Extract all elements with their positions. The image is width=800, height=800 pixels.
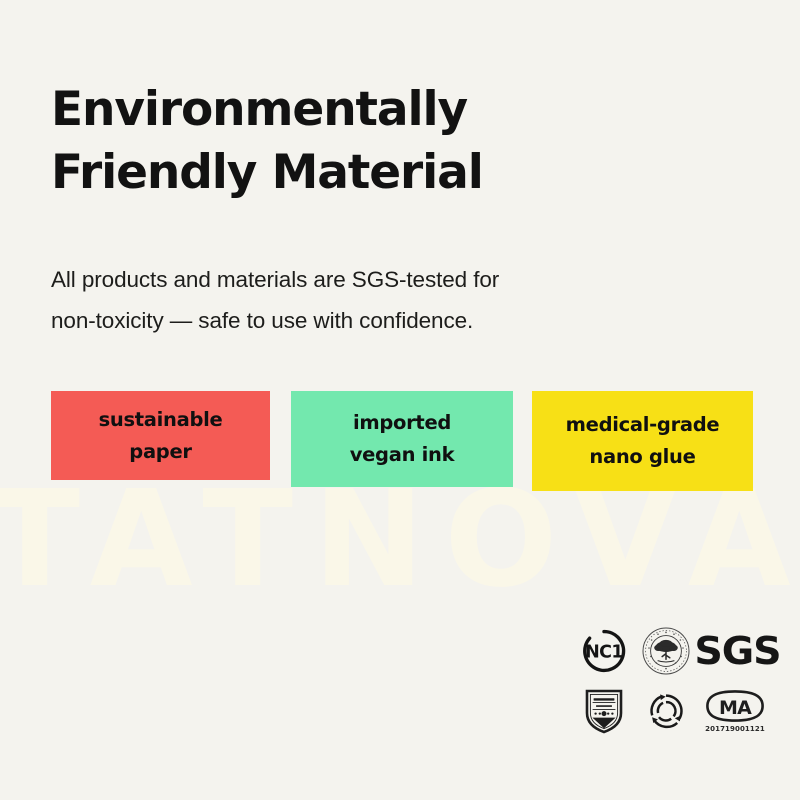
brand-watermark: TATNOVA	[0, 474, 800, 607]
subtitle-line-1: All products and materials are SGS-teste…	[51, 259, 691, 300]
chip-label-line-2: vegan ink	[350, 439, 455, 471]
subtitle-line-2: non-toxicity — safe to use with confiden…	[51, 300, 691, 341]
chip-label-line-1: sustainable	[99, 404, 223, 436]
headline-line-1: Environmentally	[51, 79, 731, 142]
recycle-arrows-icon	[635, 682, 697, 740]
certification-badge-grid: NC1	[573, 620, 773, 740]
chip-label-line-2: nano glue	[589, 441, 695, 473]
material-chip-medical-grade-nano-glue[interactable]: medical-grade nano glue	[532, 391, 753, 491]
chip-label-line-1: imported	[353, 407, 451, 439]
material-chip-sustainable-paper[interactable]: sustainable paper	[51, 391, 270, 480]
chip-label-line-2: paper	[129, 436, 191, 468]
chip-label-line-1: medical-grade	[566, 409, 720, 441]
nc1-circle-mark-icon: NC1	[573, 620, 635, 682]
sgs-wordmark-icon: SGS	[697, 620, 773, 682]
material-chip-imported-vegan-ink[interactable]: imported vegan ink	[291, 391, 513, 487]
tree-seal-emblem-icon	[635, 620, 697, 682]
page-title: Environmentally Friendly Material	[51, 79, 731, 204]
svg-text:MA: MA	[719, 697, 752, 719]
shield-chevron-badge-icon	[573, 682, 635, 740]
subtitle-text: All products and materials are SGS-teste…	[51, 259, 691, 341]
cma-mark-icon: MA 201719001121	[697, 682, 773, 740]
headline-line-2: Friendly Material	[51, 142, 731, 205]
poster-canvas: TATNOVA Environmentally Friendly Materia…	[0, 0, 800, 800]
svg-text:NC1: NC1	[585, 642, 623, 662]
cma-serial-number: 201719001121	[705, 725, 765, 733]
